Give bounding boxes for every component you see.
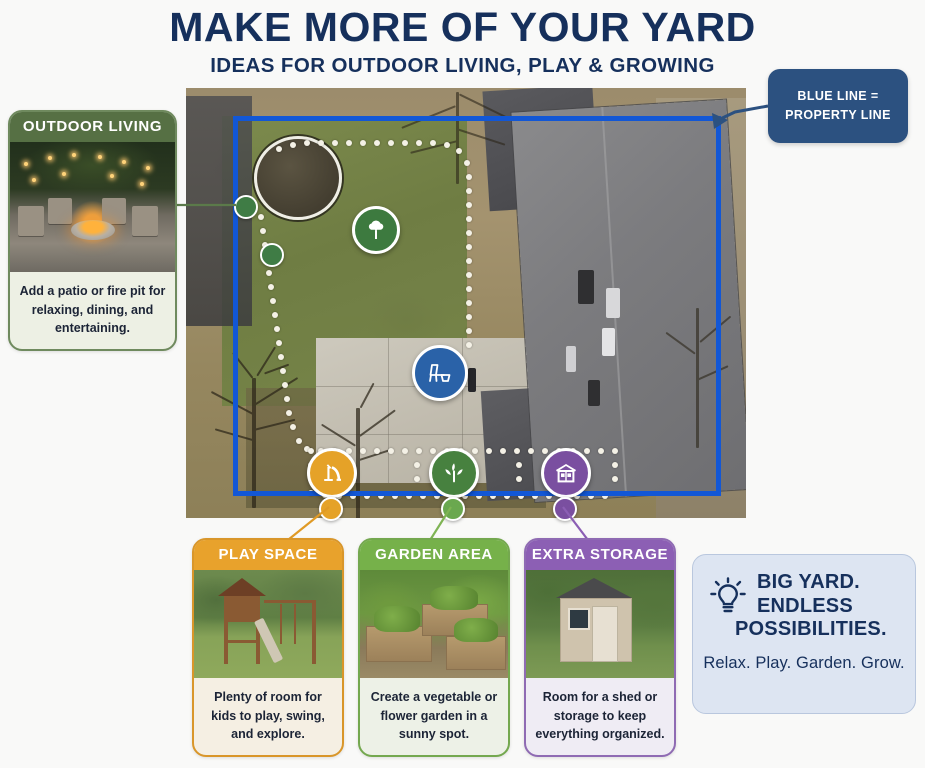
- connector-dot-garden[interactable]: [441, 497, 465, 521]
- card-garden-area-body: Create a vegetable or flower garden in a…: [360, 678, 508, 755]
- card-extra-storage-body: Room for a shed or storage to keep every…: [526, 678, 674, 755]
- patio-chair-icon[interactable]: [412, 345, 468, 401]
- card-garden-area-title: GARDEN AREA: [360, 540, 508, 570]
- connector-dot-outdoor-b[interactable]: [260, 243, 284, 267]
- card-outdoor-living-title: OUTDOOR LIVING: [10, 112, 175, 142]
- tagline-box: BIG YARD. ENDLESS POSSIBILITIES. Relax. …: [692, 554, 916, 714]
- infographic-root: MAKE MORE OF YOUR YARD IDEAS FOR OUTDOOR…: [0, 0, 925, 768]
- card-garden-area[interactable]: GARDEN AREA Create a vegetable or flower…: [358, 538, 510, 757]
- connector-dot-play[interactable]: [319, 497, 343, 521]
- card-play-space-body: Plenty of room for kids to play, swing, …: [194, 678, 342, 755]
- property-callout-line2: PROPERTY LINE: [785, 106, 891, 125]
- card-play-space-title: PLAY SPACE: [194, 540, 342, 570]
- plant-icon[interactable]: [429, 448, 479, 498]
- property-callout-line1: BLUE LINE =: [785, 87, 891, 106]
- card-garden-area-image: [360, 570, 508, 678]
- shed-icon[interactable]: [541, 448, 591, 498]
- tagline-subtitle: Relax. Play. Garden. Grow.: [693, 654, 915, 673]
- card-extra-storage[interactable]: EXTRA STORAGE Room for a shed or storage…: [524, 538, 676, 757]
- card-play-space[interactable]: PLAY SPACE Plenty of room for kids to pl…: [192, 538, 344, 757]
- connector-dot-outdoor-a[interactable]: [234, 195, 258, 219]
- slide-icon[interactable]: [307, 448, 357, 498]
- tagline-line1: BIG YARD.: [757, 571, 901, 595]
- tree-icon[interactable]: [352, 206, 400, 254]
- card-outdoor-living[interactable]: OUTDOOR LIVING Add a patio or fire pit f…: [8, 110, 177, 351]
- card-outdoor-living-image: [10, 142, 175, 272]
- card-play-space-image: [194, 570, 342, 678]
- property-line-callout[interactable]: BLUE LINE = PROPERTY LINE: [768, 69, 908, 143]
- tagline-line3: POSSIBILITIES.: [735, 618, 901, 642]
- property-line-boundary: [233, 116, 721, 496]
- card-extra-storage-image: [526, 570, 674, 678]
- page-title: MAKE MORE OF YOUR YARD: [0, 4, 925, 51]
- connector-dot-storage[interactable]: [553, 497, 577, 521]
- tagline-line2: ENDLESS: [757, 595, 901, 619]
- card-extra-storage-title: EXTRA STORAGE: [526, 540, 674, 570]
- card-outdoor-living-body: Add a patio or fire pit for relaxing, di…: [10, 272, 175, 349]
